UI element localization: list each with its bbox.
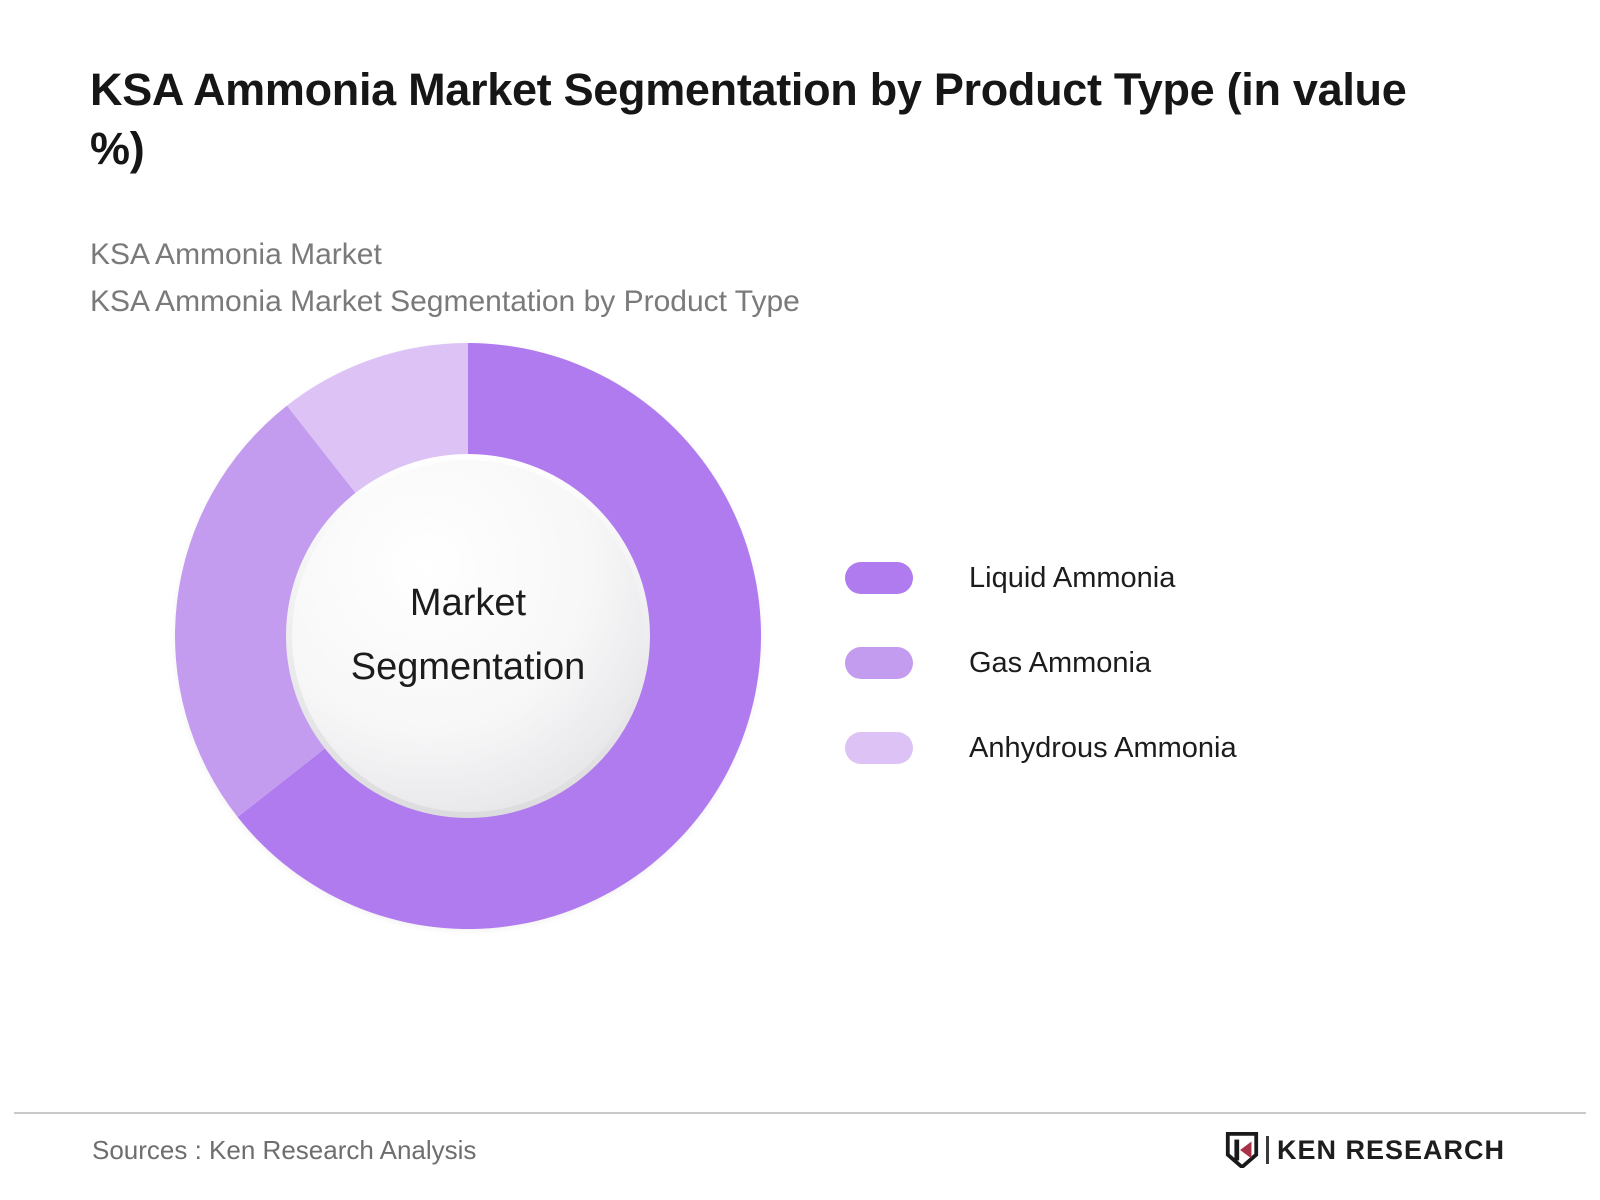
legend-item[interactable]: Gas Ammonia — [845, 647, 1237, 680]
subtitle-line-segmentation: KSA Ammonia Market Segmentation by Produ… — [90, 278, 1450, 325]
footer-divider — [14, 1112, 1586, 1114]
chart-legend: Liquid AmmoniaGas AmmoniaAnhydrous Ammon… — [845, 562, 1237, 765]
legend-label: Anhydrous Ammonia — [969, 732, 1237, 765]
legend-item[interactable]: Anhydrous Ammonia — [845, 732, 1237, 765]
subtitle-block: KSA Ammonia Market KSA Ammonia Market Se… — [90, 231, 1450, 326]
legend-label: Liquid Ammonia — [969, 562, 1175, 595]
sources-label: Sources : Ken Research Analysis — [92, 1135, 476, 1166]
slide-header: KSA Ammonia Market Segmentation by Produ… — [0, 0, 1600, 326]
brand-logo: KEN RESEARCH — [1225, 1132, 1505, 1168]
donut-chart: Market Segmentation — [175, 343, 761, 929]
donut-svg — [175, 343, 761, 929]
page-title: KSA Ammonia Market Segmentation by Produ… — [90, 60, 1450, 179]
legend-label: Gas Ammonia — [969, 647, 1151, 680]
donut-hub — [292, 460, 644, 812]
subtitle-line-market: KSA Ammonia Market — [90, 231, 1450, 278]
legend-swatch — [845, 647, 913, 679]
legend-swatch — [845, 562, 913, 594]
brand-divider — [1266, 1136, 1269, 1164]
legend-swatch — [845, 732, 913, 764]
slide-footer: Sources : Ken Research Analysis KEN RESE… — [0, 1122, 1600, 1178]
legend-item[interactable]: Liquid Ammonia — [845, 562, 1237, 595]
ken-research-shield-icon — [1225, 1132, 1259, 1168]
slide-root: KSA Ammonia Market Segmentation by Produ… — [0, 0, 1600, 1200]
brand-name: KEN RESEARCH — [1277, 1135, 1505, 1166]
chart-area: Market Segmentation Liquid AmmoniaGas Am… — [0, 326, 1600, 1200]
